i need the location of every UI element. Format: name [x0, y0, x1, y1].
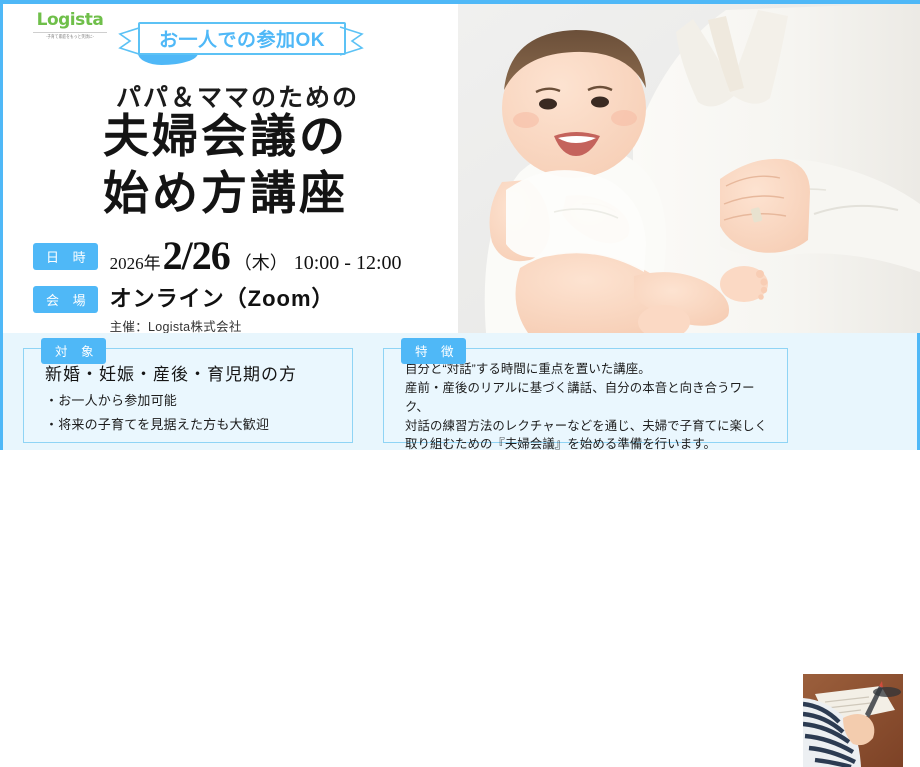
venue-badge: 会 場 — [33, 286, 98, 313]
date-row: 日 時 2026年 2/26 （木） 10:00 - 12:00 — [33, 236, 453, 276]
ribbon-banner: お一人での参加OK — [116, 22, 366, 60]
bottom-detail-band: 対 象 新婚・妊娠・産後・育児期の方 ・お一人から参加可能 ・将来の子育てを見据… — [3, 333, 917, 450]
brush-stroke — [361, 179, 391, 186]
logo-wordmark: Logista — [31, 12, 109, 29]
feature-line: 産前・産後のリアルに基づく講話、自分の本音と向き合うワーク、 — [405, 379, 778, 417]
title-text-1: 夫婦会議の — [103, 110, 348, 162]
logo-divider — [33, 32, 107, 33]
left-content-panel: Logista -子育て家庭をもっと笑顔に- お一人での参加OK パパ＆ママのた… — [3, 4, 458, 333]
target-item: ・将来の子育てを見据えた方も大歓迎 — [45, 414, 343, 433]
thumbnail-photo-writing — [803, 674, 903, 767]
main-photo-baby-and-parent — [458, 4, 920, 333]
date-year: 2026年 — [110, 249, 161, 274]
feature-line: 対話の練習方法のレクチャーなどを通じ、夫婦で子育てに楽しく — [405, 417, 778, 436]
title-line-1: 夫婦会議の — [103, 108, 443, 165]
event-info: 日 時 2026年 2/26 （木） 10:00 - 12:00 会 場 オンラ… — [33, 236, 453, 335]
target-item: ・お一人から参加可能 — [45, 390, 343, 409]
date-badge: 日 時 — [33, 243, 98, 270]
seminar-title: 夫婦会議の 始め方講座 — [103, 108, 443, 221]
date-time: 10:00 - 12:00 — [294, 252, 402, 275]
target-box-body: 新婚・妊娠・産後・育児期の方 ・お一人から参加可能 ・将来の子育てを見据えた方も… — [45, 360, 343, 433]
logo-tagline: -子育て家庭をもっと笑顔に- — [31, 34, 109, 40]
feature-line: 取り組むための『夫婦会議』を始める準備を行います。 — [405, 435, 778, 454]
date-dayofweek: （木） — [234, 249, 288, 275]
title-line-2: 始め方講座 — [103, 165, 443, 222]
target-audience-box: 対 象 新婚・妊娠・産後・育児期の方 ・お一人から参加可能 ・将来の子育てを見据… — [23, 338, 353, 443]
date-monthday: 2/26 — [163, 236, 230, 276]
feature-box: 特 徴 自分と“対話”する時間に重点を置いた講座。 産前・産後のリアルに基づく講… — [383, 338, 788, 443]
venue-value: オンライン（Zoom） 主催：Logista株式会社 — [110, 286, 335, 335]
logista-logo: Logista -子育て家庭をもっと笑顔に- — [31, 12, 109, 40]
seminar-banner: Logista -子育て家庭をもっと笑顔に- お一人での参加OK パパ＆ママのた… — [0, 0, 920, 450]
ribbon-label: お一人での参加OK — [138, 22, 346, 55]
date-value: 2026年 2/26 （木） 10:00 - 12:00 — [110, 236, 402, 276]
feature-box-body: 自分と“対話”する時間に重点を置いた講座。 産前・産後のリアルに基づく講話、自分… — [405, 360, 778, 454]
venue-row: 会 場 オンライン（Zoom） 主催：Logista株式会社 — [33, 286, 453, 335]
feature-box-label: 特 徴 — [401, 338, 466, 364]
title-text-2: 始め方講座 — [103, 167, 348, 219]
target-box-label: 対 象 — [41, 338, 106, 364]
venue-main: オンライン（Zoom） — [110, 286, 335, 311]
